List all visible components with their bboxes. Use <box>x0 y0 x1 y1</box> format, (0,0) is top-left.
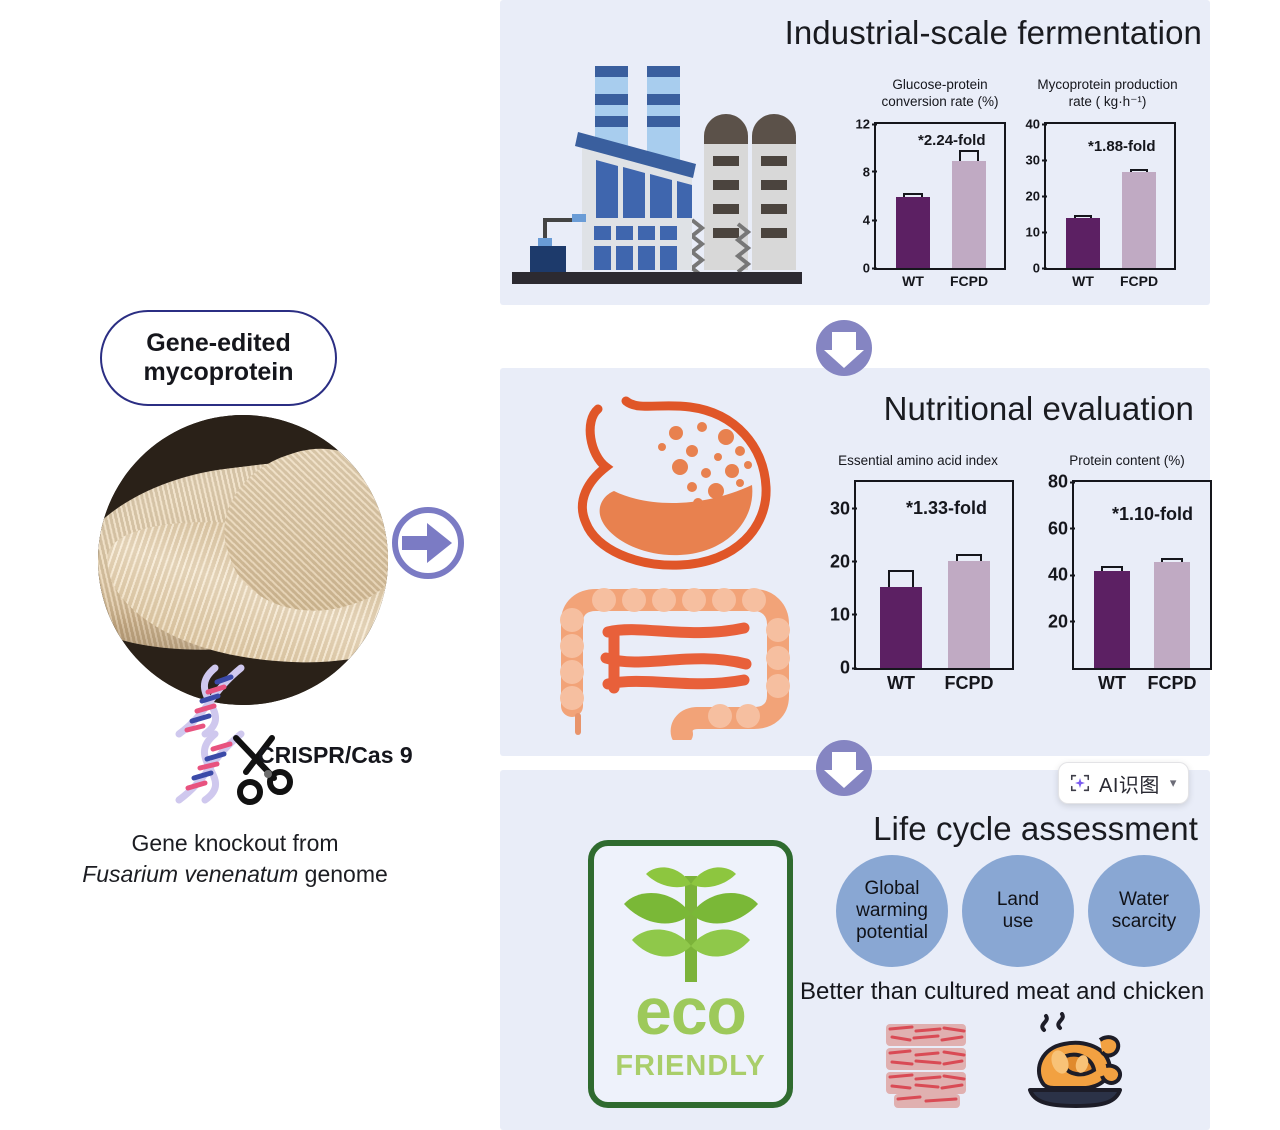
chart-title: Protein content (%) <box>1032 452 1222 469</box>
knockout-line-2: Fusarium venenatum genome <box>0 859 470 890</box>
error-bar <box>888 570 914 587</box>
chart-title: Essential amino acid index <box>818 452 1018 469</box>
arrow-down-icon <box>812 316 876 380</box>
chart-title: Mycoprotein production rate ( kg·h⁻¹) <box>1013 76 1203 111</box>
fold-annotation: *1.33-fold <box>906 498 987 519</box>
ai-badge-label: AI识图 <box>1099 769 1160 798</box>
lca-metric-global-warming: Global warming potential <box>836 855 948 967</box>
y-tick: 10 <box>830 604 856 625</box>
knockout-line-1: Gene knockout from <box>0 828 470 859</box>
bar-wt: WT <box>1094 571 1130 668</box>
fold-annotation: *1.88-fold <box>1088 138 1156 155</box>
eco-word: eco <box>594 978 787 1044</box>
y-tick: 10 <box>1026 225 1046 240</box>
bar-fcpd: FCPD <box>1154 562 1190 668</box>
ai-image-recognition-button[interactable]: AI识图 ▾ <box>1058 762 1189 804</box>
stomach-icon <box>540 395 790 580</box>
y-tick: 20 <box>830 551 856 572</box>
plot-area: 0 4 8 12 WT FCPD *2.24-fold <box>874 122 1006 270</box>
y-tick: 80 <box>1048 472 1074 493</box>
plot-area: 0 10 20 30 WT FCPD *1.33-fold <box>854 480 1014 670</box>
y-tick: 20 <box>1048 611 1074 632</box>
error-bar <box>959 150 979 161</box>
x-label: WT <box>1098 673 1126 694</box>
plot-area: 20 40 60 80 WT FCPD *1.10-fold <box>1072 480 1212 670</box>
y-tick: 0 <box>840 658 856 679</box>
plant-icon <box>616 858 766 986</box>
knockout-line-2-tail: genome <box>298 861 388 887</box>
x-label: WT <box>887 673 915 694</box>
chevron-down-icon[interactable]: ▾ <box>1170 775 1177 791</box>
x-label: WT <box>902 273 924 289</box>
gene-knockout-caption: Gene knockout from Fusarium venenatum ge… <box>0 828 470 890</box>
lca-metric-water-scarcity: Water scarcity <box>1088 855 1200 967</box>
plot-area: 0 10 20 30 40 WT FCPD *1.88-fold <box>1044 122 1176 270</box>
error-bar <box>903 193 923 197</box>
fold-annotation: *2.24-fold <box>918 132 986 149</box>
lca-comparison-text: Better than cultured meat and chicken <box>800 978 1220 1006</box>
fold-annotation: *1.10-fold <box>1112 504 1193 525</box>
chart-essential-amino-acid-index: Essential amino acid index 0 10 20 30 WT… <box>822 452 1014 707</box>
x-label: WT <box>1072 273 1094 289</box>
y-tick: 0 <box>863 261 876 276</box>
lca-metric-land-use: Land use <box>962 855 1074 967</box>
bar-wt: WT <box>896 197 930 268</box>
chart-mycoprotein-production-rate: Mycoprotein production rate ( kg·h⁻¹) 0 … <box>1020 76 1195 291</box>
error-bar <box>1074 215 1092 218</box>
y-tick: 30 <box>1026 153 1046 168</box>
lca-metric-label: Global warming potential <box>856 878 928 944</box>
bar-fcpd: FCPD <box>948 561 990 668</box>
panel-title-nutrition: Nutritional evaluation <box>884 390 1194 428</box>
arrow-right-icon <box>388 503 468 583</box>
chart-glucose-protein-conversion: Glucose-protein conversion rate (%) 0 4 … <box>860 76 1020 291</box>
factory-icon <box>512 48 812 296</box>
y-tick: 60 <box>1048 518 1074 539</box>
y-tick: 4 <box>863 213 876 228</box>
error-bar <box>1161 558 1183 562</box>
bar-fcpd: FCPD <box>1122 172 1156 268</box>
intestine-icon <box>548 580 800 740</box>
y-tick: 40 <box>1048 565 1074 586</box>
error-bar <box>1130 169 1148 172</box>
organism-name: Fusarium venenatum <box>82 861 298 887</box>
x-label: FCPD <box>1148 673 1197 694</box>
ai-sparkle-icon <box>1069 772 1091 794</box>
x-label: FCPD <box>1120 273 1158 289</box>
y-tick: 12 <box>856 117 876 132</box>
bar-fcpd: FCPD <box>952 161 986 268</box>
chart-title: Glucose-protein conversion rate (%) <box>845 76 1035 111</box>
page-title: Gene-edited mycoprotein <box>100 310 337 406</box>
error-bar <box>956 554 982 561</box>
lca-metric-label: Land use <box>997 889 1039 933</box>
y-tick: 20 <box>1026 189 1046 204</box>
chart-protein-content: Protein content (%) 20 40 60 80 WT FCPD … <box>1042 452 1212 707</box>
cultured-meat-icon <box>880 1020 976 1112</box>
panel-title-lca: Life cycle assessment <box>873 810 1198 848</box>
eco-friendly-badge: eco FRIENDLY <box>588 840 793 1108</box>
arrow-down-icon <box>812 736 876 800</box>
bar-wt: WT <box>1066 218 1100 268</box>
bar-wt: WT <box>880 587 922 668</box>
y-tick: 40 <box>1026 117 1046 132</box>
roast-chicken-icon <box>1020 1012 1130 1112</box>
x-label: FCPD <box>945 673 994 694</box>
lca-metric-label: Water scarcity <box>1112 889 1176 933</box>
graphical-abstract: Gene-edited mycoprotein <box>0 0 1280 1130</box>
y-tick: 8 <box>863 164 876 179</box>
eco-friendly-word: FRIENDLY <box>594 1050 787 1083</box>
y-tick: 0 <box>1033 261 1046 276</box>
y-tick: 30 <box>830 498 856 519</box>
crispr-label: CRISPR/Cas 9 <box>258 742 413 769</box>
panel-title-fermentation: Industrial-scale fermentation <box>785 14 1202 52</box>
x-label: FCPD <box>950 273 988 289</box>
left-column: Gene-edited mycoprotein <box>0 0 500 1130</box>
error-bar <box>1101 566 1123 571</box>
